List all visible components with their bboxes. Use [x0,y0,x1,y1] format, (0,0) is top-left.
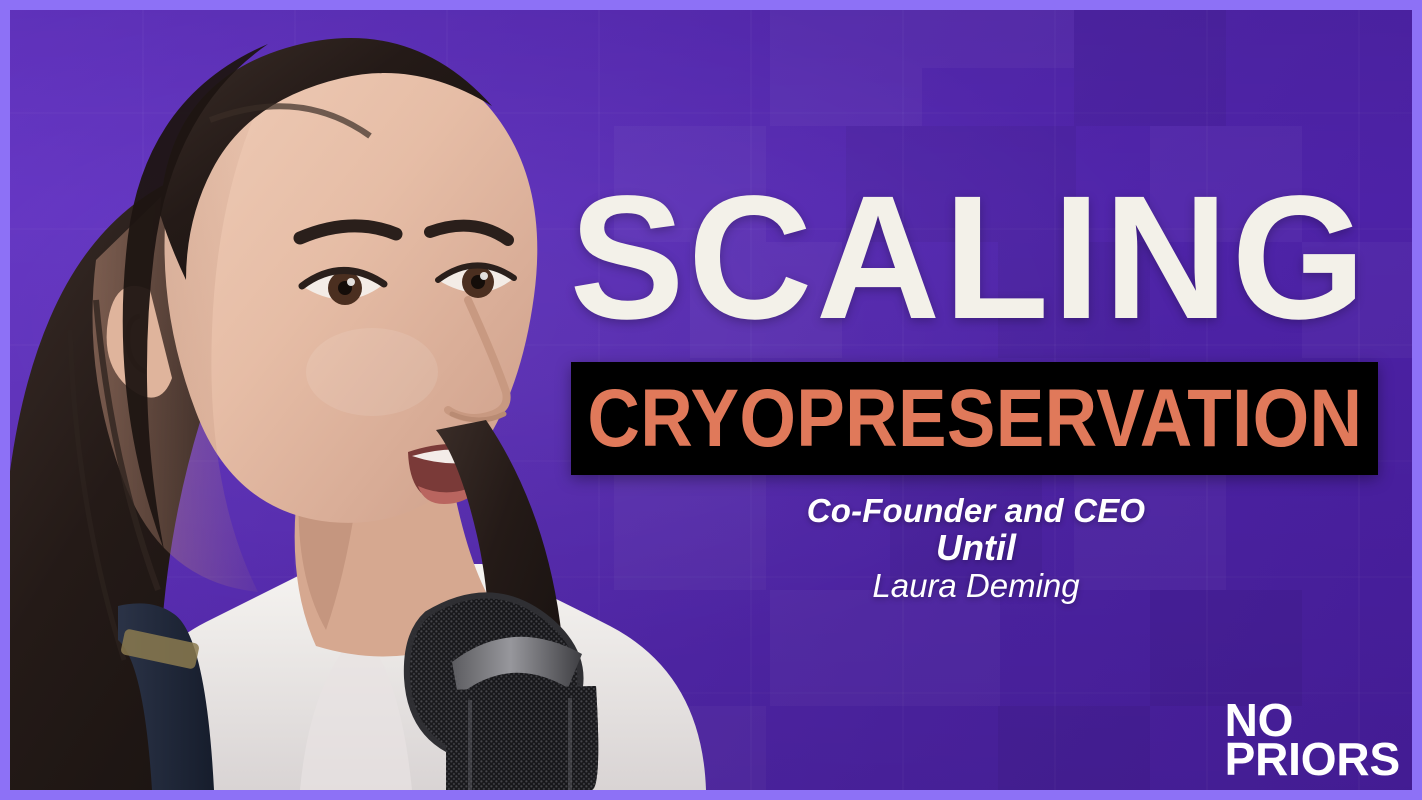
guest-company: Until [561,528,1391,568]
logo-line-2: PRIORS [1225,740,1400,780]
guest-credit: Co-Founder and CEO Until Laura Deming [561,493,1391,605]
thumbnail-canvas: SCALING CRYOPRESERVATION Co-Founder and … [10,10,1412,790]
headline-main-text: SCALING [570,178,1369,340]
guest-role: Co-Founder and CEO [561,493,1391,530]
episode-thumbnail: SCALING CRYOPRESERVATION Co-Founder and … [0,0,1422,800]
guest-name: Laura Deming [561,567,1391,605]
headline-accent-bar: CRYOPRESERVATION [571,362,1378,475]
headline-group: SCALING [561,178,1391,340]
headline-accent-text: CRYOPRESERVATION [587,378,1362,460]
no-priors-logo: NO PRIORS [1225,701,1400,780]
